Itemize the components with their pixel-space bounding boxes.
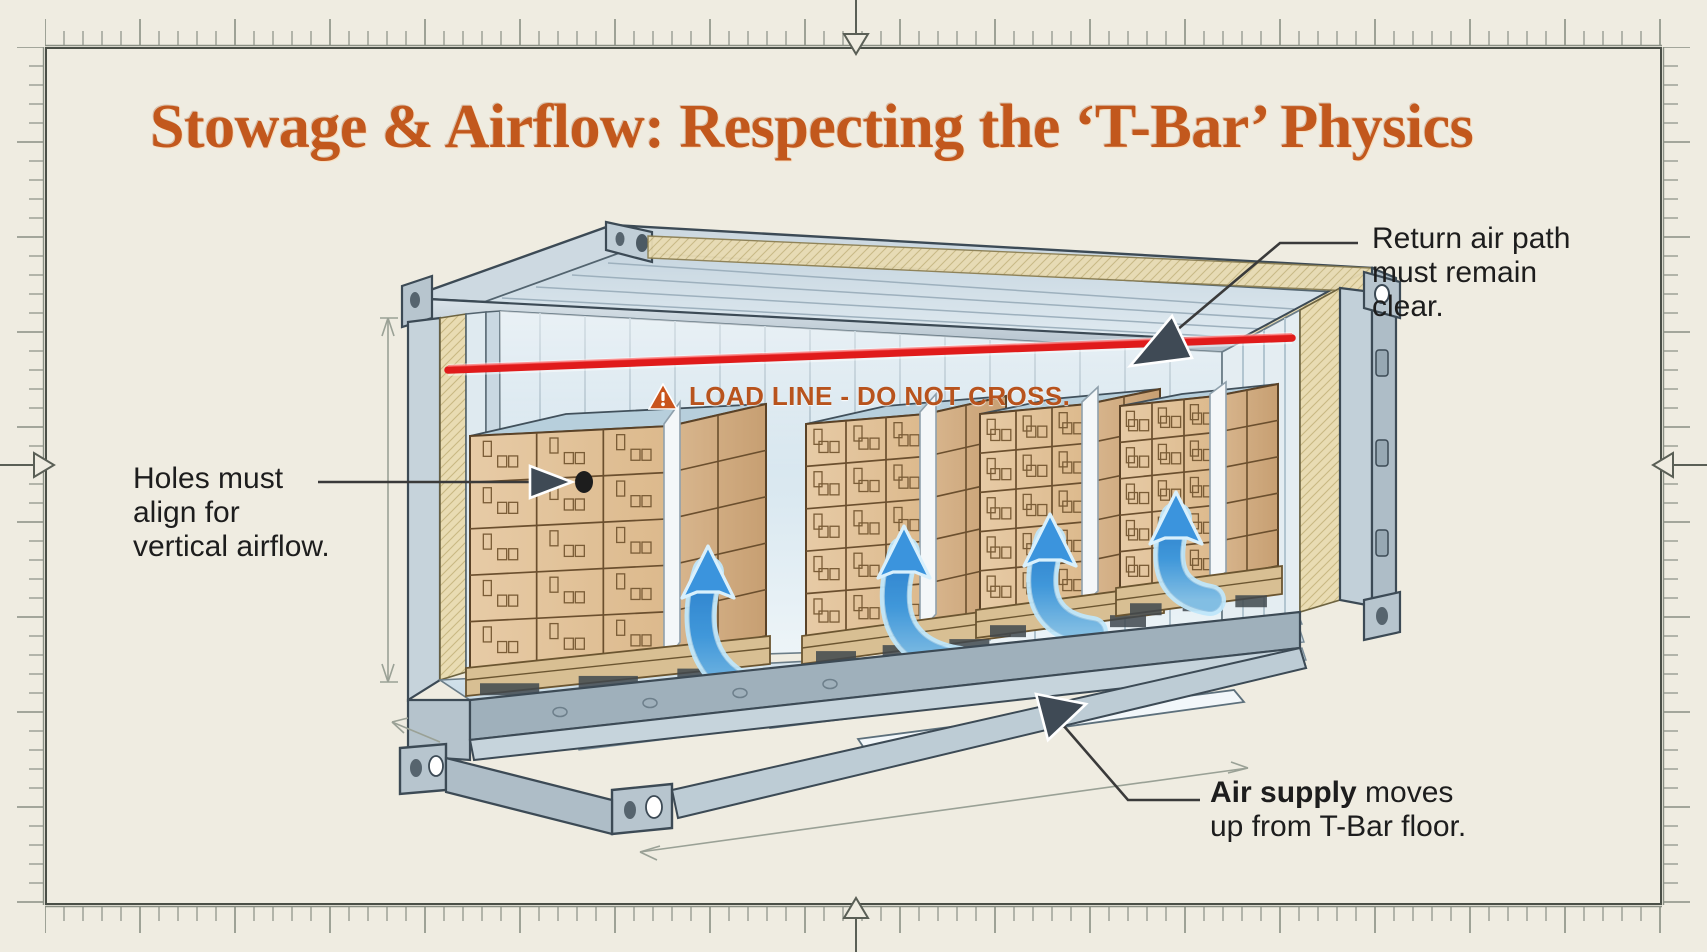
pallet-stack (1116, 382, 1282, 616)
ruler-right (1662, 47, 1707, 905)
holes-line2: align for (133, 496, 330, 530)
load-line-text: LOAD LINE - DO NOT CROSS. (689, 381, 1070, 412)
leader-return-air (1130, 243, 1358, 366)
warning-triangle-icon (648, 383, 678, 410)
pallet-stack (466, 402, 770, 696)
edge-marker-right (1647, 447, 1707, 483)
airflow-arrow (682, 546, 790, 700)
airflow-arrow (1150, 492, 1210, 600)
holes-line3: vertical airflow. (133, 530, 330, 564)
page-title: Stowage & Airflow: Respecting the ‘T-Bar… (150, 92, 1473, 163)
airflow-arrow (878, 526, 960, 662)
return-air-line2: must remain (1372, 256, 1570, 290)
pallet-stack (802, 394, 1010, 664)
annotation-air-supply: Air supply moves up from T-Bar floor. (1210, 776, 1466, 844)
pallet-stack (976, 387, 1164, 638)
annotation-return-air: Return air path must remain clear. (1372, 222, 1570, 324)
ruler-left (0, 47, 45, 905)
ruler-bottom (45, 905, 1662, 952)
carton-vent-hole (575, 471, 593, 493)
air-supply-line1: Air supply moves (1210, 776, 1466, 810)
edge-marker-left (0, 447, 60, 483)
edge-marker-bottom (838, 892, 874, 952)
infographic-canvas: Stowage & Airflow: Respecting the ‘T-Bar… (0, 0, 1707, 952)
air-supply-line2: up from T-Bar floor. (1210, 810, 1466, 844)
leader-holes (318, 466, 572, 498)
return-air-line1: Return air path (1372, 222, 1570, 256)
leader-air-supply (1036, 694, 1200, 800)
air-supply-rest: moves (1357, 776, 1454, 809)
load-line-label: LOAD LINE - DO NOT CROSS. (648, 381, 1070, 412)
ruler-top (45, 0, 1662, 47)
edge-marker-top (838, 0, 874, 60)
annotation-holes: Holes must align for vertical airflow. (133, 462, 330, 564)
air-supply-bold: Air supply (1210, 776, 1357, 809)
airflow-arrow (1024, 514, 1092, 632)
holes-line1: Holes must (133, 462, 330, 496)
return-air-line3: clear. (1372, 290, 1570, 324)
